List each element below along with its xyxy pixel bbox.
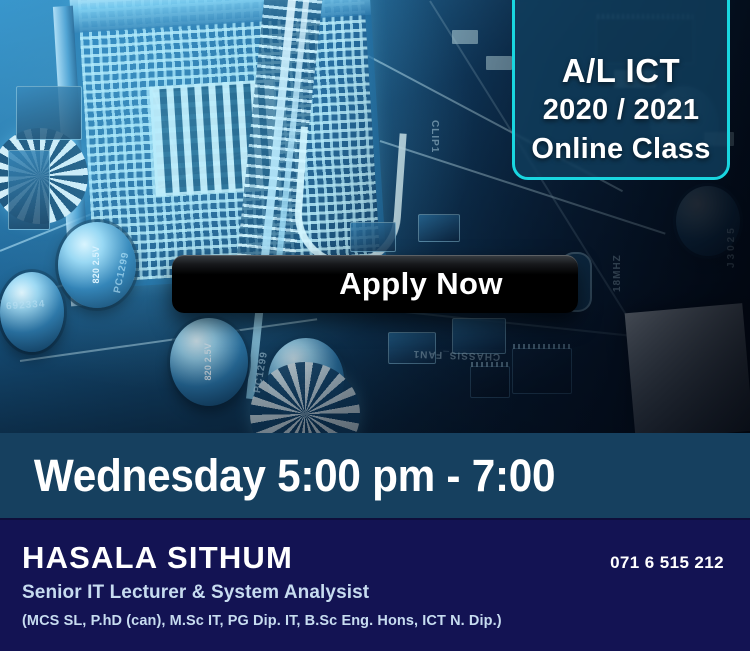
course-title-line-3: Online Class bbox=[531, 134, 710, 165]
schedule-band: Wednesday 5:00 pm - 7:00 bbox=[0, 433, 750, 518]
schedule-text: Wednesday 5:00 pm - 7:00 bbox=[0, 450, 555, 502]
instructor-name: HASALA SITHUM bbox=[22, 540, 293, 576]
apply-now-button-label: Apply Now bbox=[247, 266, 503, 302]
contact-phone-number[interactable]: 071 6 515 212 bbox=[610, 553, 728, 573]
instructor-footer-top-row: HASALA SITHUM 071 6 515 212 bbox=[22, 540, 728, 576]
promo-banner: 820 2.5V 820 2.5V 820 2.5V CLIP1 PC1299 … bbox=[0, 0, 750, 651]
instructor-role: Senior IT Lecturer & System Analysist bbox=[22, 582, 728, 604]
course-title-panel: A/L ICT 2020 / 2021 Online Class bbox=[512, 0, 730, 180]
course-title-line-1: A/L ICT bbox=[562, 53, 680, 89]
instructor-footer: HASALA SITHUM 071 6 515 212 Senior IT Le… bbox=[0, 518, 750, 651]
apply-now-button[interactable]: Apply Now bbox=[172, 255, 578, 313]
course-title-line-2: 2020 / 2021 bbox=[543, 95, 700, 126]
instructor-qualifications: (MCS SL, P.hD (can), M.Sc IT, PG Dip. IT… bbox=[22, 613, 728, 629]
